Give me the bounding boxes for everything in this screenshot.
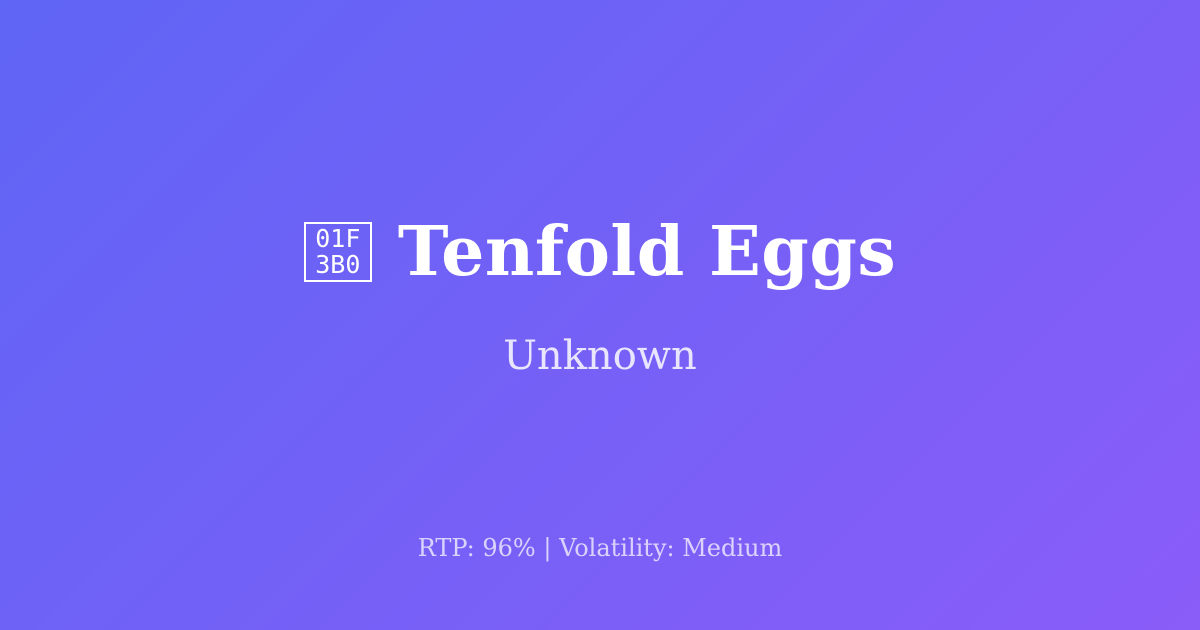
tofu-codepoint-upper: 01F (315, 226, 360, 252)
title-row: 01F 3B0 Tenfold Eggs (0, 216, 1200, 288)
og-share-card: 01F 3B0 Tenfold Eggs Unknown RTP: 96% | … (0, 0, 1200, 630)
game-title: Tenfold Eggs (398, 216, 896, 288)
game-meta-line: RTP: 96% | Volatility: Medium (0, 533, 1200, 564)
game-provider-subtitle: Unknown (503, 332, 697, 380)
slot-machine-emoji-icon: 01F 3B0 (304, 222, 372, 282)
tofu-codepoint-lower: 3B0 (315, 252, 360, 278)
